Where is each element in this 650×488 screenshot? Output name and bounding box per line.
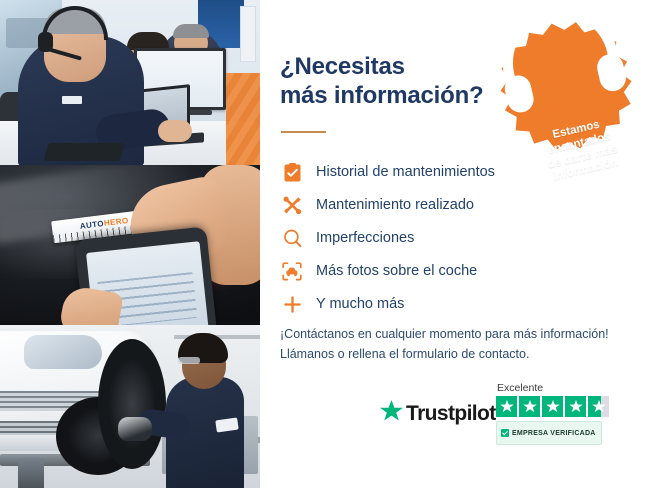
agent-background-hair: [173, 24, 209, 38]
verified-check-icon: [501, 424, 509, 442]
technician-safety-glasses: [178, 357, 200, 364]
plus-icon: [279, 295, 305, 314]
orange-shelving: [226, 73, 260, 165]
feature-item-imperfections: Imperfecciones: [279, 222, 629, 255]
technician-glove: [118, 417, 152, 441]
agent-hand: [158, 120, 192, 142]
trustpilot-rating: Excelente: [496, 382, 609, 445]
car-lift-column: [18, 458, 44, 488]
feature-list: Historial de mantenimientos M: [279, 156, 629, 321]
feature-label: Mantenimiento realizado: [316, 198, 474, 214]
page-title: ¿Necesitas más información?: [280, 52, 510, 111]
contact-paragraph: ¡Contáctanos en cualquier momento para m…: [280, 324, 630, 365]
car-scan-icon: [279, 262, 305, 281]
feature-label: Historial de mantenimientos: [316, 165, 495, 181]
trustpilot-wordmark: Trustpilot: [406, 402, 496, 426]
wall-poster-secondary: [240, 6, 256, 62]
feature-item-maintenance-done: Mantenimiento realizado: [279, 189, 629, 222]
feature-item-maintenance-history: Historial de mantenimientos: [279, 156, 629, 189]
verified-badge: EMPRESA VERIFICADA: [496, 421, 602, 445]
call-center-agents-photo: [0, 0, 260, 165]
car-inspection-photo: AUTOHERO: [0, 165, 260, 325]
trustpilot-star-icon: [380, 400, 403, 427]
feature-item-much-more: Y mucho más: [279, 288, 629, 321]
starburst-shape: [488, 9, 643, 163]
page-title-line-1: ¿Necesitas: [280, 53, 405, 80]
rating-star-partial: [588, 396, 609, 417]
desk-tablet: [44, 143, 124, 161]
page-title-line-2: más información?: [280, 82, 484, 109]
rating-star: [565, 396, 586, 417]
content-panel: ¿Necesitas más información? Estamos: [260, 0, 650, 488]
rating-star: [519, 396, 540, 417]
clipboard-check-icon: [279, 163, 305, 182]
trustpilot-widget[interactable]: Trustpilot Excelente: [380, 382, 630, 454]
rating-star: [496, 396, 517, 417]
title-divider: [281, 131, 326, 133]
verified-badge-label: EMPRESA VERIFICADA: [512, 430, 596, 437]
car-headlight: [24, 335, 102, 369]
trustpilot-logo[interactable]: Trustpilot: [380, 400, 496, 427]
feature-label: Imperfecciones: [316, 231, 414, 247]
rating-star: [542, 396, 563, 417]
contact-line-2: Llámanos o rellena el formulario de cont…: [280, 347, 529, 361]
magnifier-icon: [279, 229, 305, 248]
workshop-wheel-photo: [0, 325, 260, 488]
contact-info-banner: AUTOHERO: [0, 0, 650, 488]
contact-line-1: ¡Contáctanos en cualquier momento para m…: [280, 327, 609, 341]
feature-label: Y mucho más: [316, 297, 404, 313]
car-front-tire: [98, 339, 166, 469]
star-rating: [496, 396, 609, 417]
tools-cross-icon: [279, 196, 305, 215]
feature-item-more-photos: Más fotos sobre el coche: [279, 255, 629, 288]
feature-label: Más fotos sobre el coche: [316, 264, 477, 280]
photo-collage: AUTOHERO: [0, 0, 260, 488]
rating-label: Excelente: [496, 382, 609, 394]
status-badge: Estamos encantados de darte más informac…: [487, 7, 645, 165]
agent-name-badge: [62, 96, 82, 104]
